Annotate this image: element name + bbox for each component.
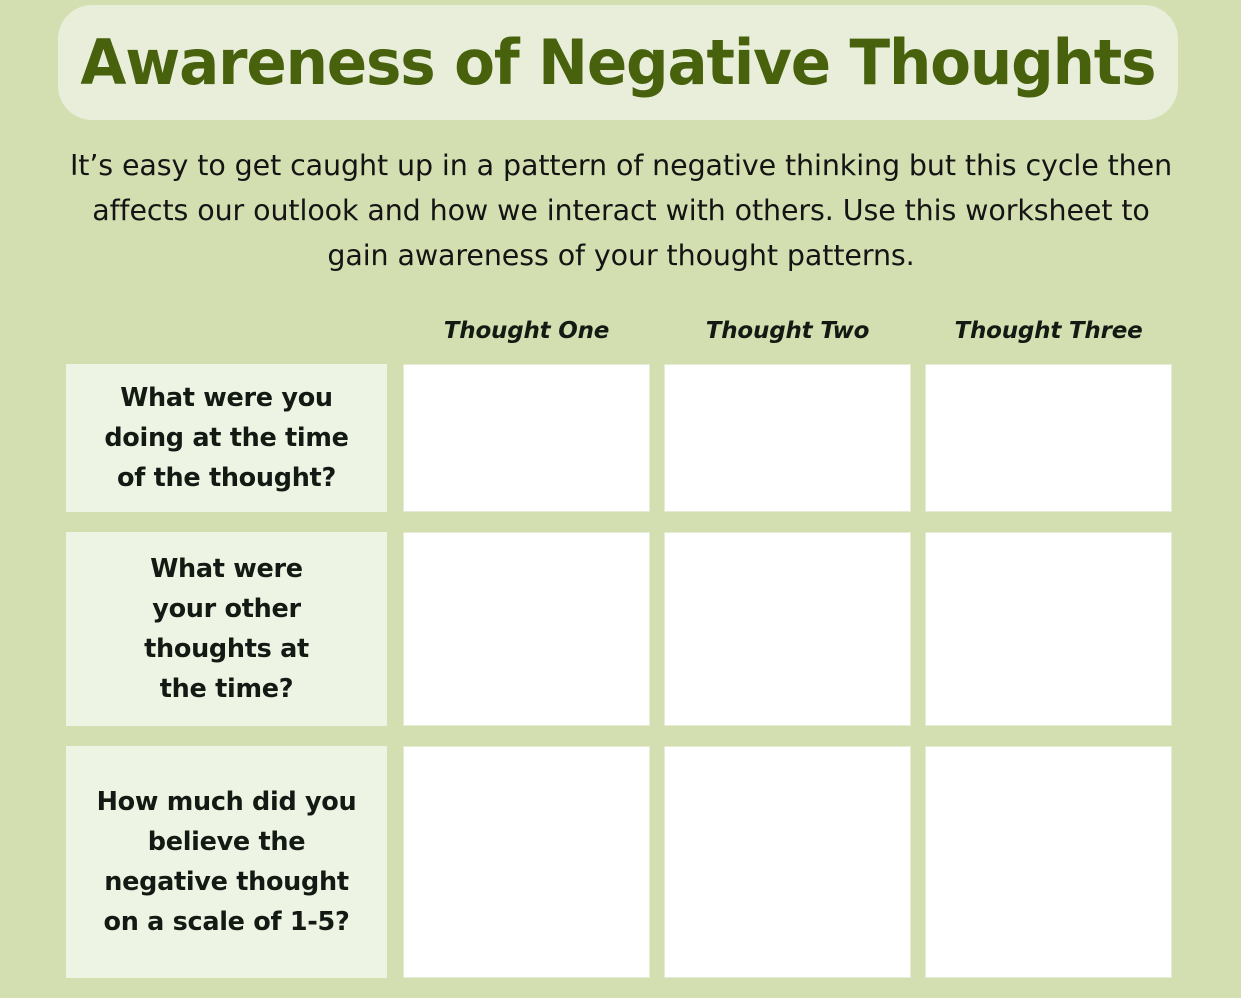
answer-cell-row2-thought-three[interactable]	[925, 532, 1172, 726]
row-label-cell-1: What were you doing at the time of the t…	[66, 364, 387, 512]
answer-cell-row1-thought-three[interactable]	[925, 364, 1172, 512]
table-row: How much did you believe the negative th…	[66, 746, 1172, 978]
table-row: What were you doing at the time of the t…	[66, 364, 1172, 512]
column-gap	[911, 364, 925, 512]
label-column-gap	[387, 532, 403, 726]
column-gap	[650, 532, 664, 726]
label-column-gap	[387, 746, 403, 978]
title-panel: Awareness of Negative Thoughts	[58, 5, 1178, 120]
intro-paragraph: It’s easy to get caught up in a pattern …	[62, 143, 1180, 278]
answer-cell-row3-thought-three[interactable]	[925, 746, 1172, 978]
answer-cell-row2-thought-one[interactable]	[403, 532, 650, 726]
column-gap	[911, 532, 925, 726]
answer-cell-row1-thought-two[interactable]	[664, 364, 911, 512]
column-header-row: Thought One Thought Two Thought Three	[403, 318, 1172, 344]
answer-cell-row2-thought-two[interactable]	[664, 532, 911, 726]
column-gap	[650, 364, 664, 512]
column-header-thought-one: Thought One	[403, 318, 650, 344]
row-prompt-3: How much did you believe the negative th…	[97, 782, 357, 942]
column-gap	[650, 746, 664, 978]
answer-cell-row3-thought-one[interactable]	[403, 746, 650, 978]
column-header-thought-three: Thought Three	[925, 318, 1172, 344]
table-row: What were your other thoughts at the tim…	[66, 532, 1172, 726]
row-label-cell-2: What were your other thoughts at the tim…	[66, 532, 387, 726]
row-label-cell-3: How much did you believe the negative th…	[66, 746, 387, 978]
row-prompt-1: What were you doing at the time of the t…	[97, 378, 357, 498]
worksheet-grid: What were you doing at the time of the t…	[66, 364, 1172, 998]
label-column-gap	[387, 364, 403, 512]
column-gap	[911, 746, 925, 978]
answer-cell-row3-thought-two[interactable]	[664, 746, 911, 978]
worksheet-page: Awareness of Negative Thoughts It’s easy…	[0, 0, 1241, 978]
page-title: Awareness of Negative Thoughts	[81, 32, 1156, 94]
column-header-thought-two: Thought Two	[664, 318, 911, 344]
answer-cell-row1-thought-one[interactable]	[403, 364, 650, 512]
row-prompt-2: What were your other thoughts at the tim…	[119, 549, 334, 709]
